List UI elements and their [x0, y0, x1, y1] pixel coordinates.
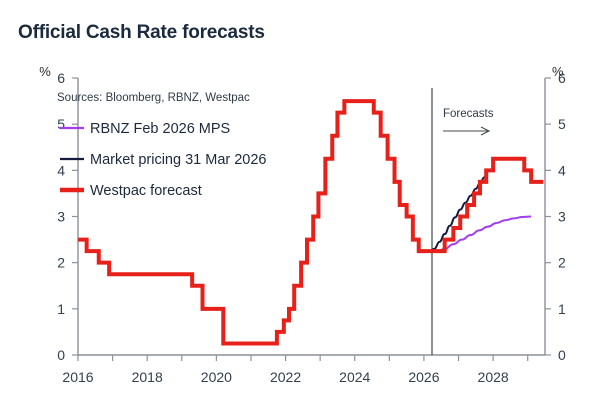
- y-tick-label: 4: [558, 162, 566, 178]
- series-line-1: [429, 177, 484, 251]
- y-tick-label: 2: [558, 255, 566, 271]
- y-tick-labels-left: 0123456: [57, 70, 65, 363]
- y-axis-unit-left: %: [39, 64, 51, 79]
- chart-legend: RBNZ Feb 2026 MPSMarket pricing 31 Mar 2…: [60, 121, 267, 199]
- y-tick-labels-right: 0123456: [558, 70, 566, 363]
- y-tick-label: 3: [558, 209, 566, 225]
- series-line-2: [78, 101, 543, 343]
- y-tick-label: 0: [558, 347, 566, 363]
- x-tick-label: 2020: [201, 369, 232, 385]
- y-tick-label: 0: [57, 347, 65, 363]
- x-tick-label: 2028: [478, 369, 509, 385]
- y-tick-label: 2: [57, 255, 65, 271]
- x-tick-label: 2024: [339, 369, 370, 385]
- y-axis-unit-right: %: [552, 64, 564, 79]
- forecast-annotation-label: Forecasts: [443, 108, 494, 120]
- x-tick-label: 2018: [132, 369, 163, 385]
- y-tick-label: 5: [558, 116, 566, 132]
- legend-label: Westpac forecast: [90, 183, 202, 199]
- y-tick-label: 4: [57, 162, 65, 178]
- y-tick-label: 1: [57, 301, 65, 317]
- chart-figure: Official Cash Rate forecasts 0123456 012…: [0, 0, 600, 415]
- x-tick-label: 2022: [270, 369, 301, 385]
- data-series-group: [78, 101, 543, 343]
- y-ticks-left: [72, 78, 78, 355]
- y-tick-label: 1: [558, 301, 566, 317]
- y-tick-label: 3: [57, 209, 65, 225]
- x-tick-label: 2026: [408, 369, 439, 385]
- y-tick-label: 5: [57, 116, 65, 132]
- x-tick-label: 2016: [62, 369, 93, 385]
- legend-label: Market pricing 31 Mar 2026: [90, 152, 267, 168]
- forecast-arrow-icon: [443, 127, 489, 135]
- official-cash-rate-chart: 0123456 0123456 201620182020202220242026…: [0, 0, 600, 415]
- y-ticks-right: [545, 78, 551, 355]
- x-ticks: [78, 355, 528, 361]
- source-note: Sources: Bloomberg, RBNZ, Westpac: [57, 92, 250, 104]
- x-tick-labels: 2016201820202022202420262028: [62, 369, 508, 385]
- legend-label: RBNZ Feb 2026 MPS: [90, 121, 230, 137]
- y-tick-label: 6: [57, 70, 65, 86]
